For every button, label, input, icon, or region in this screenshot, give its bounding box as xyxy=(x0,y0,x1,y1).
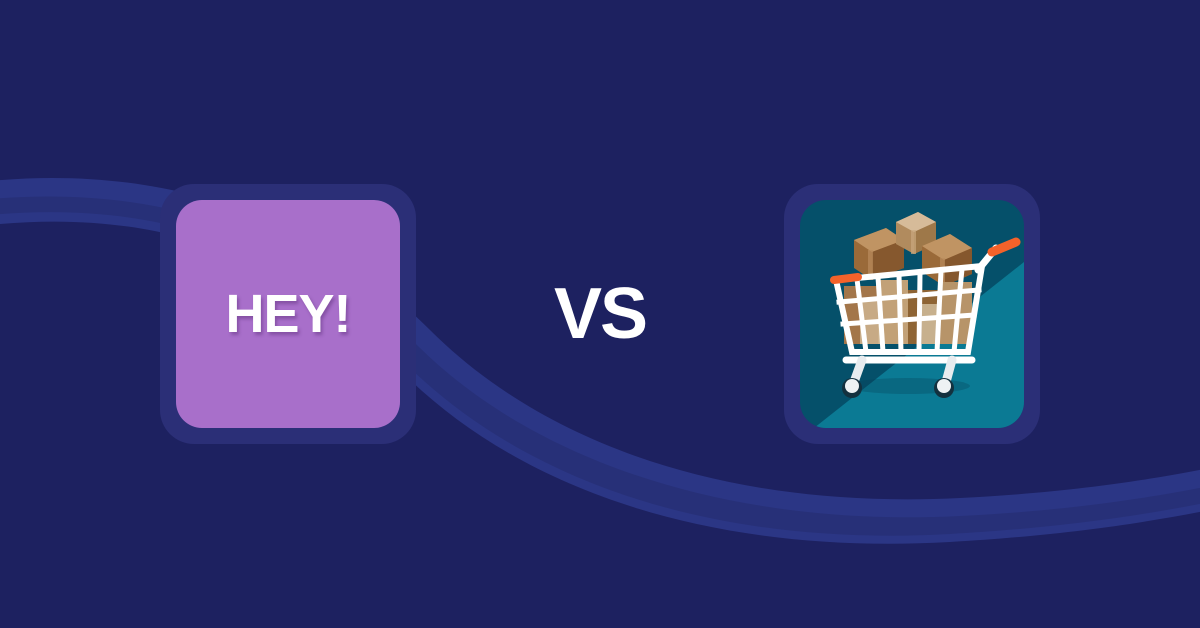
left-app-icon: HEY! xyxy=(176,200,400,428)
versus-label: VS xyxy=(554,278,646,350)
cart-handle-grip-orange xyxy=(992,242,1016,252)
shopping-cart-icon xyxy=(800,200,1024,428)
cart-front-lip-orange xyxy=(834,277,858,280)
left-app-tile-frame[interactable]: HEY! xyxy=(160,184,416,444)
comparison-row: HEY! VS xyxy=(0,0,1200,628)
cart-wheel-left xyxy=(842,378,862,398)
right-app-tile-frame[interactable] xyxy=(784,184,1040,444)
right-app-icon xyxy=(800,200,1024,428)
left-app-logo-text: HEY! xyxy=(225,287,350,341)
cart-wheel-right xyxy=(934,378,954,398)
versus-separator: VS xyxy=(416,278,784,350)
comparison-banner: HEY! VS xyxy=(0,0,1200,628)
